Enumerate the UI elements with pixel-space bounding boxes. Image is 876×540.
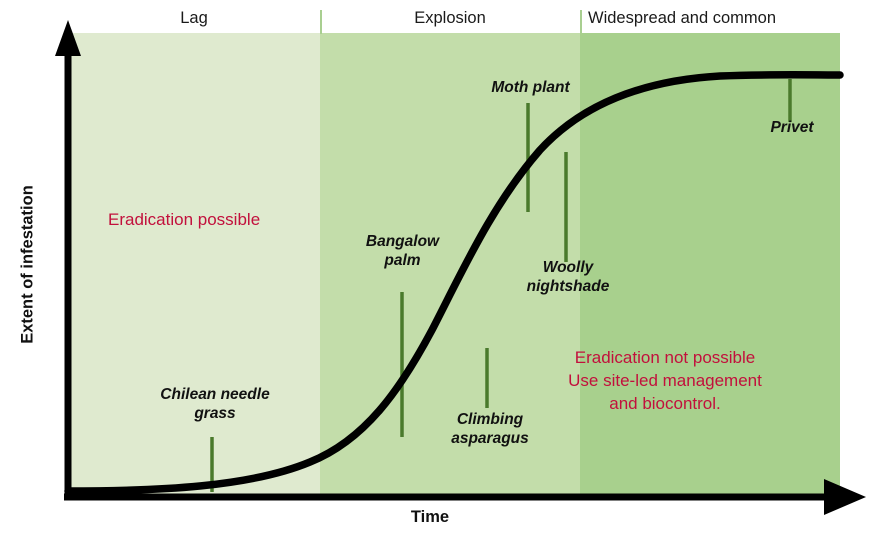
y-axis-title: Extent of infestation: [19, 155, 38, 375]
species-label-bangalow-palm: Bangalow palm: [335, 232, 470, 271]
annotation-eradication-not-possible-line3: and biocontrol.: [520, 393, 810, 416]
phase-label-explosion: Explosion: [320, 9, 580, 28]
x-axis-title: Time: [330, 508, 530, 527]
species-label-moth-plant: Moth plant: [468, 78, 593, 97]
infestation-curve-figure: Lag Explosion Widespread and common Erad…: [0, 0, 876, 540]
phase-label-widespread: Widespread and common: [588, 9, 848, 28]
species-label-chilean-needle-grass: Chilean needle grass: [140, 385, 290, 424]
annotation-eradication-possible: Eradication possible: [108, 209, 260, 232]
phase-label-lag: Lag: [68, 9, 320, 28]
phase-band-lag: [68, 33, 320, 497]
species-label-woolly-nightshade: Woolly nightshade: [508, 258, 628, 297]
annotation-eradication-not-possible-line1: Eradication not possible: [520, 347, 810, 370]
band-divider-explosion-widespread: [580, 10, 582, 34]
annotation-eradication-not-possible: Eradication not possible Use site-led ma…: [520, 347, 810, 416]
annotation-eradication-not-possible-line2: Use site-led management: [520, 370, 810, 393]
species-label-climbing-asparagus: Climbing asparagus: [425, 410, 555, 449]
species-label-privet: Privet: [742, 118, 842, 137]
